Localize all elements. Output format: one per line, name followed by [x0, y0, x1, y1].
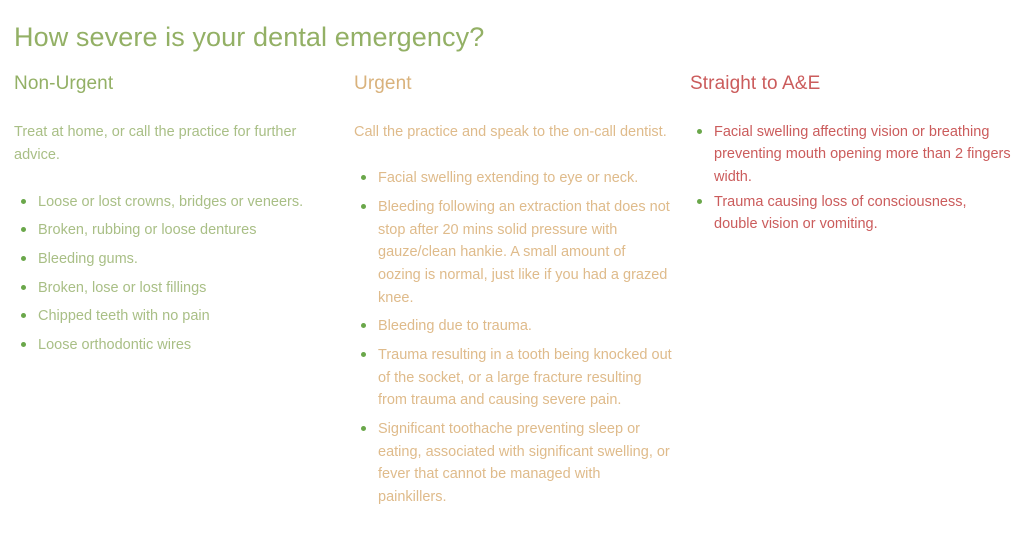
list-item: Significant toothache preventing sleep o… — [354, 418, 672, 509]
list-item-label: Loose or lost crowns, bridges or veneers… — [38, 194, 303, 210]
list-item-label: Chipped teeth with no pain — [38, 308, 210, 324]
list-item: Facial swelling affecting vision or brea… — [690, 121, 1012, 189]
column-heading-non-urgent: Non-Urgent — [14, 72, 322, 97]
list-item: Facial swelling extending to eye or neck… — [354, 167, 672, 190]
list-item-label: Broken, rubbing or loose dentures — [38, 222, 256, 238]
page-title: How severe is your dental emergency? — [14, 22, 484, 53]
bullet-icon — [21, 256, 26, 261]
list-item-label: Loose orthodontic wires — [38, 337, 191, 353]
severity-columns: Non-Urgent Treat at home, or call the pr… — [0, 72, 1024, 515]
severity-column-urgent: Urgent Call the practice and speak to th… — [342, 72, 686, 515]
bullet-icon — [21, 227, 26, 232]
urgent-list: Facial swelling extending to eye or neck… — [354, 167, 672, 509]
list-item-label: Facial swelling extending to eye or neck… — [378, 170, 638, 186]
bullet-icon — [361, 426, 366, 431]
bullet-icon — [361, 175, 366, 180]
list-item-label: Bleeding due to trauma. — [378, 318, 532, 334]
list-item: Broken, lose or lost fillings — [14, 277, 322, 300]
list-item: Bleeding gums. — [14, 248, 322, 271]
column-intro-urgent: Call the practice and speak to the on-ca… — [354, 121, 672, 144]
list-item-label: Broken, lose or lost fillings — [38, 280, 206, 296]
list-item-label: Significant toothache preventing sleep o… — [378, 421, 670, 505]
non-urgent-list: Loose or lost crowns, bridges or veneers… — [14, 191, 322, 357]
column-heading-urgent: Urgent — [354, 72, 672, 97]
bullet-icon — [697, 129, 702, 134]
bullet-icon — [21, 285, 26, 290]
list-item-label: Facial swelling affecting vision or brea… — [714, 124, 1011, 185]
list-item: Loose orthodontic wires — [14, 334, 322, 357]
list-item-label: Bleeding gums. — [38, 251, 138, 267]
list-item: Bleeding due to trauma. — [354, 315, 672, 338]
bullet-icon — [21, 313, 26, 318]
list-item: Broken, rubbing or loose dentures — [14, 219, 322, 242]
bullet-icon — [361, 352, 366, 357]
bullet-icon — [697, 199, 702, 204]
list-item-label: Trauma resulting in a tooth being knocke… — [378, 347, 672, 408]
severity-column-non-urgent: Non-Urgent Treat at home, or call the pr… — [0, 72, 342, 363]
list-item: Trauma resulting in a tooth being knocke… — [354, 344, 672, 412]
column-intro-non-urgent: Treat at home, or call the practice for … — [14, 121, 322, 168]
straight-to-ae-list: Facial swelling affecting vision or brea… — [690, 121, 1012, 236]
bullet-icon — [21, 199, 26, 204]
column-heading-straight-to-ae: Straight to A&E — [690, 72, 1012, 97]
list-item: Chipped teeth with no pain — [14, 305, 322, 328]
severity-column-straight-to-ae: Straight to A&E Facial swelling affectin… — [686, 72, 1024, 238]
list-item-label: Bleeding following an extraction that do… — [378, 199, 670, 306]
dental-emergency-severity-page: How severe is your dental emergency? Non… — [0, 0, 1024, 537]
list-item: Loose or lost crowns, bridges or veneers… — [14, 191, 322, 214]
bullet-icon — [361, 204, 366, 209]
list-item: Bleeding following an extraction that do… — [354, 196, 672, 309]
bullet-icon — [361, 323, 366, 328]
list-item-label: Trauma causing loss of consciousness, do… — [714, 194, 967, 233]
bullet-icon — [21, 342, 26, 347]
list-item: Trauma causing loss of consciousness, do… — [690, 191, 1012, 236]
